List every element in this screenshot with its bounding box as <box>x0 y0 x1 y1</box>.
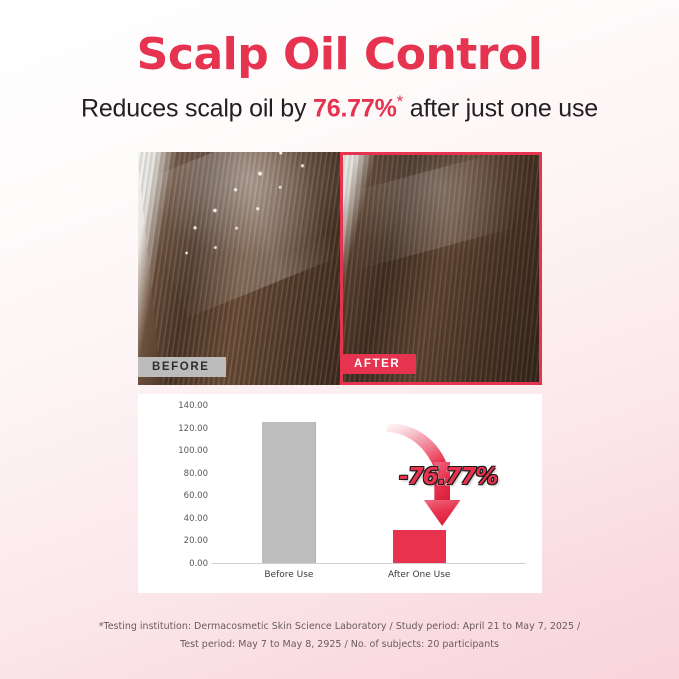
footnote-line-2: Test period: May 7 to May 8, 2925 / No. … <box>0 636 679 654</box>
y-tick-label: 120.00 <box>178 424 208 434</box>
x-label-after-one-use: After One Use <box>388 570 450 580</box>
reduction-percentage-callout: -76.77% <box>399 464 497 490</box>
after-label-badge: AFTER <box>340 354 416 374</box>
y-tick-label: 80.00 <box>184 469 208 479</box>
before-photo: BEFORE <box>138 152 340 385</box>
oil-reduction-chart: 0.0020.0040.0060.0080.00100.00120.00140.… <box>138 394 542 593</box>
subtitle-prefix: Reduces scalp oil by <box>81 95 313 123</box>
bar-before-use <box>262 422 315 563</box>
page-title: Scalp Oil Control <box>0 32 679 78</box>
header: Scalp Oil Control Reduces scalp oil by 7… <box>0 0 679 124</box>
footnote-line-1: *Testing institution: Dermacosmetic Skin… <box>0 618 679 636</box>
subtitle-percent: 76.77% <box>313 95 397 123</box>
after-photo: AFTER <box>340 152 542 385</box>
before-label-badge: BEFORE <box>138 357 226 377</box>
chart-plot-area: -76.77% <box>212 406 526 564</box>
subtitle: Reduces scalp oil by 76.77%* after just … <box>0 92 679 123</box>
before-after-comparison: BEFORE AFTER <box>138 152 542 385</box>
chart-x-axis-line <box>212 563 526 564</box>
bar-after-one-use <box>393 530 446 563</box>
x-label-before-use: Before Use <box>264 570 313 580</box>
y-tick-label: 140.00 <box>178 401 208 411</box>
chart-y-axis: 0.0020.0040.0060.0080.00100.00120.00140.… <box>160 406 208 564</box>
y-tick-label: 100.00 <box>178 446 208 456</box>
y-tick-label: 40.00 <box>184 514 208 524</box>
footnote: *Testing institution: Dermacosmetic Skin… <box>0 618 679 653</box>
subtitle-suffix: after just one use <box>403 95 598 123</box>
y-tick-label: 0.00 <box>189 559 208 569</box>
y-tick-label: 20.00 <box>184 536 208 546</box>
chart-x-axis-labels: Before Use After One Use <box>212 570 526 584</box>
y-tick-label: 60.00 <box>184 491 208 501</box>
